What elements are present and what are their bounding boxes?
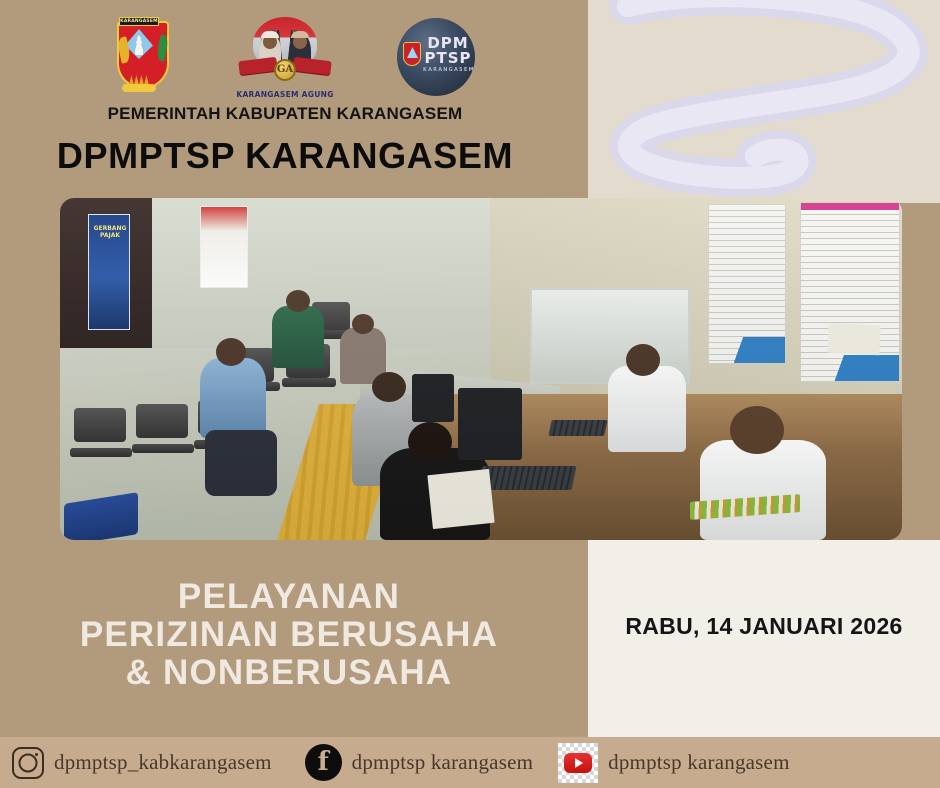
social-item-facebook[interactable]: dpmptsp karangasem <box>305 744 533 781</box>
page-title: DPMPTSP KARANGASEM <box>0 135 570 177</box>
decorative-panel-top-right <box>588 0 940 203</box>
instagram-handle: dpmptsp_kabkarangasem <box>54 750 272 775</box>
crest-banner-text: KARANGASEM <box>119 17 159 26</box>
karangasem-regency-crest-icon: KARANGASEM <box>113 15 173 99</box>
karangasem-agung-logo-icon: GA KARANGASEM AGUNG <box>233 15 337 99</box>
instagram-icon[interactable] <box>12 747 44 779</box>
dpmptsp-logo-icon: DPM PTSP KARANGASEM <box>397 18 475 96</box>
main-title-line-1: PELAYANAN <box>0 578 578 616</box>
youtube-icon[interactable] <box>558 743 598 783</box>
facebook-icon[interactable] <box>305 744 342 781</box>
dpmptsp-logo-line3: KARANGASEM <box>423 68 473 73</box>
agung-monogram: GA <box>274 59 296 81</box>
social-footer: dpmptsp_kabkarangasem dpmptsp karangasem… <box>0 737 940 788</box>
dpmptsp-logo-line2: PTSP <box>423 51 473 66</box>
header-text-block: PEMERINTAH KABUPATEN KARANGASEM DPMPTSP … <box>0 104 570 177</box>
service-hall-photo <box>60 198 902 540</box>
event-date: RABU, 14 JANUARI 2026 <box>588 613 940 640</box>
main-title: PELAYANAN PERIZINAN BERUSAHA & NONBERUSA… <box>0 578 578 692</box>
facebook-handle: dpmptsp karangasem <box>352 750 533 775</box>
agung-caption: KARANGASEM AGUNG <box>233 90 337 99</box>
social-item-youtube[interactable]: dpmptsp karangasem <box>558 743 789 783</box>
header-subtitle: PEMERINTAH KABUPATEN KARANGASEM <box>0 104 570 124</box>
youtube-handle: dpmptsp karangasem <box>608 750 789 775</box>
main-title-line-3: & NONBERUSAHA <box>0 654 578 692</box>
logo-row: KARANGASEM GA KARANGASEM AGUNG DPM <box>0 14 588 100</box>
main-title-line-2: PERIZINAN BERUSAHA <box>0 616 578 654</box>
social-item-instagram[interactable]: dpmptsp_kabkarangasem <box>0 747 272 779</box>
poster-canvas: KARANGASEM GA KARANGASEM AGUNG DPM <box>0 0 940 788</box>
